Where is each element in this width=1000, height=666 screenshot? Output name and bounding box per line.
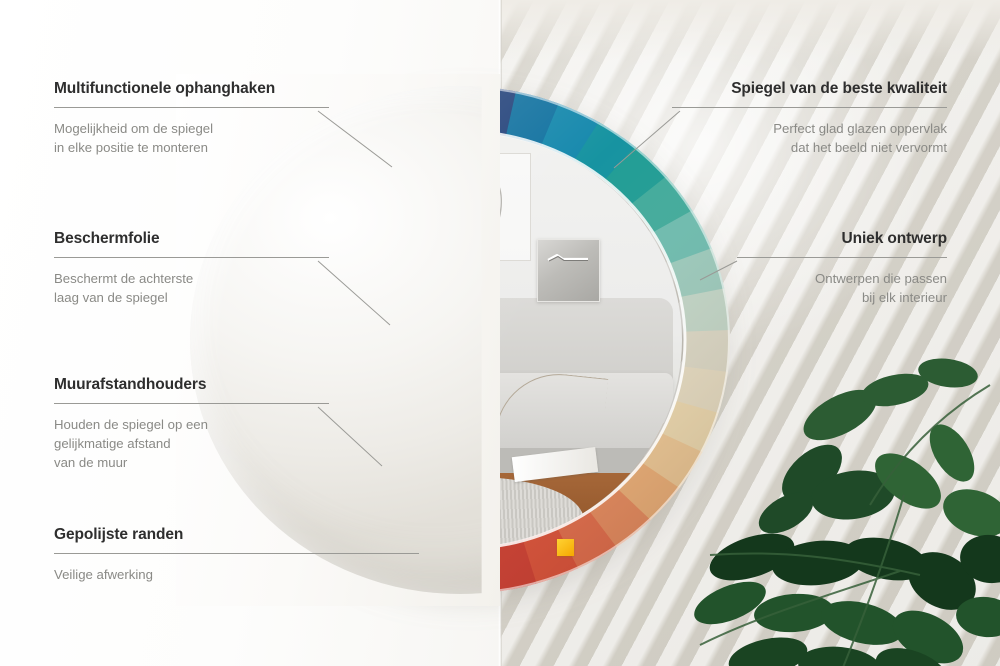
callout-design-title: Uniek ontwerp (737, 230, 947, 248)
callout-foil: Beschermfolie Beschermt de achterste laa… (54, 230, 329, 307)
infographic-canvas: Multifunctionele ophanghaken Mogelijkhei… (0, 0, 1000, 666)
callout-design: Uniek ontwerp Ontwerpen die passen bij e… (737, 230, 947, 307)
callout-hooks-body: Mogelijkheid om de spiegel in elke posit… (54, 119, 329, 157)
hanging-hook-plate (537, 239, 600, 302)
callout-foil-body: Beschermt de achterste laag van de spieg… (54, 269, 329, 307)
callout-hooks-rule (54, 107, 329, 108)
callout-hooks: Multifunctionele ophanghaken Mogelijkhei… (54, 80, 329, 157)
callout-edges-body: Veilige afwerking (54, 565, 419, 584)
callout-spacers: Muurafstandhouders Houden de spiegel op … (54, 376, 329, 472)
callout-spacers-body: Houden de spiegel op een gelijkmatige af… (54, 415, 329, 472)
callout-edges-title: Gepolijste randen (54, 526, 419, 544)
callout-quality-rule (672, 107, 947, 108)
callout-design-rule (737, 257, 947, 258)
callout-spacers-rule (54, 403, 329, 404)
callout-foil-title: Beschermfolie (54, 230, 329, 248)
callout-spacers-title: Muurafstandhouders (54, 376, 329, 394)
callout-edges-rule (54, 553, 419, 554)
callout-foil-rule (54, 257, 329, 258)
callout-edges: Gepolijste randen Veilige afwerking (54, 526, 419, 584)
callout-design-body: Ontwerpen die passen bij elk interieur (737, 269, 947, 307)
hook-slot-icon (547, 254, 589, 263)
wall-spacer-part (557, 539, 574, 556)
background-top-fade (500, 0, 1000, 60)
callout-quality: Spiegel van de beste kwaliteit Perfect g… (672, 80, 947, 157)
callout-quality-body: Perfect glad glazen oppervlak dat het be… (672, 119, 947, 157)
callout-hooks-title: Multifunctionele ophanghaken (54, 80, 329, 98)
callout-quality-title: Spiegel van de beste kwaliteit (672, 80, 947, 98)
